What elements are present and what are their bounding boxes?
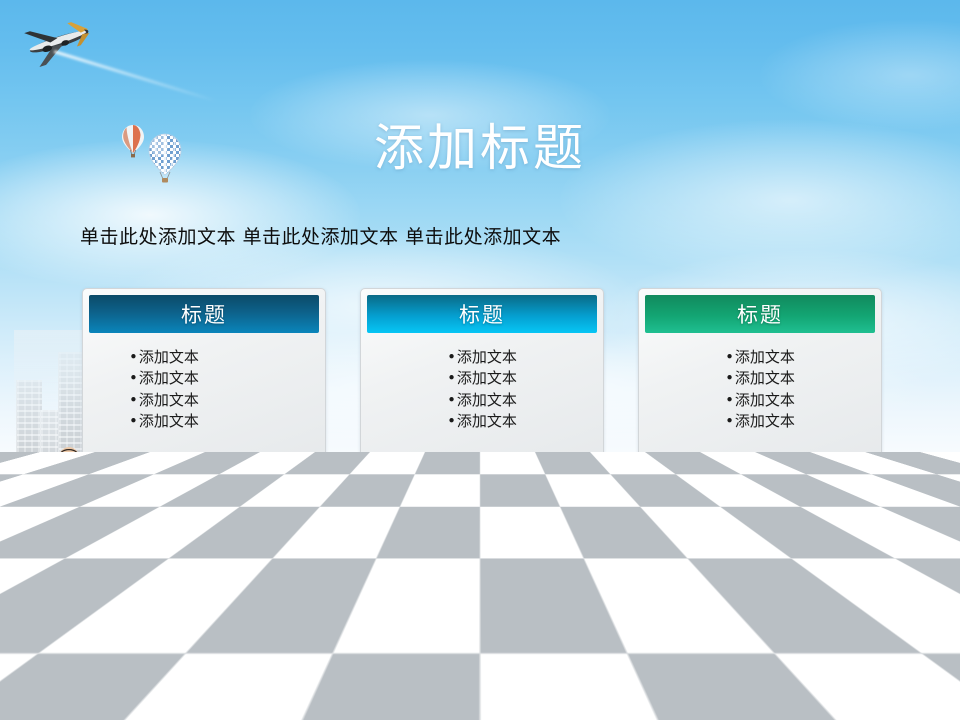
content-panels: 标题 添加文本 添加文本 添加文本 添加文本 标题 添加文本 添加文本 添加文本… [82, 288, 882, 468]
sphere-highlight [426, 493, 503, 550]
panel-3[interactable]: 标题 添加文本 添加文本 添加文本 添加文本 [638, 288, 882, 468]
presentation-slide: 添加标题 单击此处添加文本 单击此处添加文本 单击此处添加文本 标题 添加文本 … [0, 0, 960, 720]
list-item: 添加文本 [367, 368, 597, 389]
sphere-2[interactable]: 添加标题 [396, 480, 564, 648]
slide-subtitle: 单击此处添加文本 单击此处添加文本 单击此处添加文本 [80, 222, 880, 249]
panel-3-bullets: 添加文本 添加文本 添加文本 添加文本 [645, 347, 875, 432]
panel-1[interactable]: 标题 添加文本 添加文本 添加文本 添加文本 [82, 288, 326, 468]
sphere-highlight [697, 493, 774, 550]
list-item: 添加文本 [645, 390, 875, 411]
businesswoman-figure [20, 440, 116, 655]
list-item: 添加文本 [645, 411, 875, 432]
sphere-highlight [155, 493, 232, 550]
list-item: 添加文本 [367, 390, 597, 411]
panel-2[interactable]: 标题 添加文本 添加文本 添加文本 添加文本 [360, 288, 604, 468]
list-item: 添加文本 [129, 368, 319, 389]
list-item: 添加文本 [129, 390, 319, 411]
businesswoman-photo [20, 440, 116, 655]
panel-3-header: 标题 [645, 295, 875, 333]
sphere-1-label: 添加标题 [168, 558, 250, 585]
list-item: 添加文本 [367, 347, 597, 368]
panel-2-bullets: 添加文本 添加文本 添加文本 添加文本 [367, 347, 597, 432]
sphere-1-shadow [134, 636, 284, 666]
sphere-3-label: 添加标题 [710, 558, 792, 585]
list-item: 添加文本 [129, 411, 319, 432]
panel-2-header: 标题 [367, 295, 597, 333]
list-item: 添加文本 [129, 347, 319, 368]
panel-1-header: 标题 [89, 295, 319, 333]
sphere-3[interactable]: 添加标题 [667, 480, 835, 648]
list-item: 添加文本 [367, 411, 597, 432]
list-item: 添加文本 [645, 347, 875, 368]
airplane-decoration [6, 14, 116, 74]
page-title: 添加标题 [0, 108, 960, 180]
panel-1-bullets: 添加文本 添加文本 添加文本 添加文本 [89, 347, 319, 432]
sphere-2-label: 添加标题 [439, 558, 521, 585]
sphere-3-shadow [676, 636, 826, 666]
sphere-1[interactable]: 添加标题 [125, 480, 293, 648]
list-item: 添加文本 [645, 368, 875, 389]
sphere-2-shadow [405, 636, 555, 666]
